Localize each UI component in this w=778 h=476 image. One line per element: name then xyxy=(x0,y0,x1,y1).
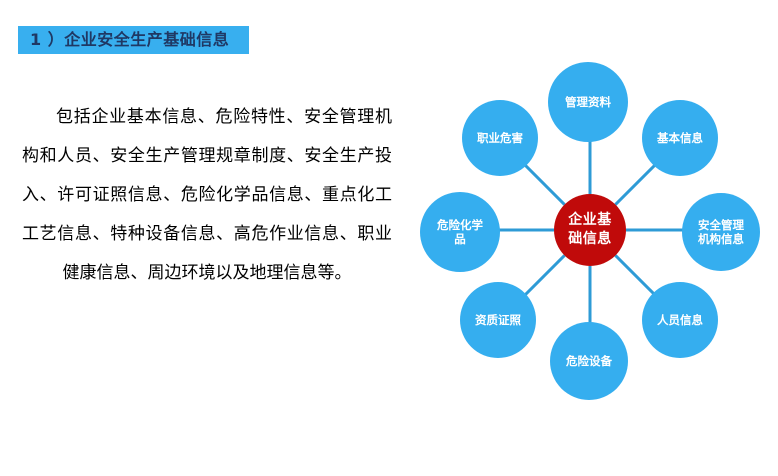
diagram-node-personnel-info[interactable]: 人员信息 xyxy=(642,282,718,358)
node-label: 人员信息 xyxy=(653,313,707,327)
diagram-node-occupational-hazards[interactable]: 职业危害 xyxy=(462,100,538,176)
diagram-node-qualification-certificates[interactable]: 资质证照 xyxy=(460,282,536,358)
node-label: 安全管理 机构信息 xyxy=(694,218,748,246)
node-label: 资质证照 xyxy=(471,313,525,327)
diagram-node-basic-info[interactable]: 基本信息 xyxy=(642,100,718,176)
node-label: 职业危害 xyxy=(473,131,527,145)
diagram-node-hazardous-equipment[interactable]: 危险设备 xyxy=(550,322,628,400)
node-label: 基本信息 xyxy=(653,131,707,145)
diagram-node-center-enterprise-basic-info[interactable]: 企业基 础信息 xyxy=(554,194,626,266)
enterprise-basic-info-diagram: 管理资料 基本信息 安全管理 机构信息 人员信息 危险设备 资质证照 危险化学 … xyxy=(410,50,770,410)
section-header-banner: 1 ）企业安全生产基础信息 xyxy=(18,26,249,54)
node-label: 危险化学 品 xyxy=(433,218,487,246)
node-label: 企业基 础信息 xyxy=(564,211,616,249)
diagram-node-management-materials[interactable]: 管理资料 xyxy=(548,62,628,142)
diagram-node-hazardous-chemicals[interactable]: 危险化学 品 xyxy=(420,192,500,272)
node-label: 管理资料 xyxy=(561,95,615,109)
diagram-node-safety-management-org-info[interactable]: 安全管理 机构信息 xyxy=(682,193,760,271)
body-paragraph: 包括企业基本信息、危险特性、安全管理机构和人员、安全生产管理规章制度、安全生产投… xyxy=(22,98,392,293)
page-title: 1 ）企业安全生产基础信息 xyxy=(30,32,229,48)
node-label: 危险设备 xyxy=(562,354,616,368)
